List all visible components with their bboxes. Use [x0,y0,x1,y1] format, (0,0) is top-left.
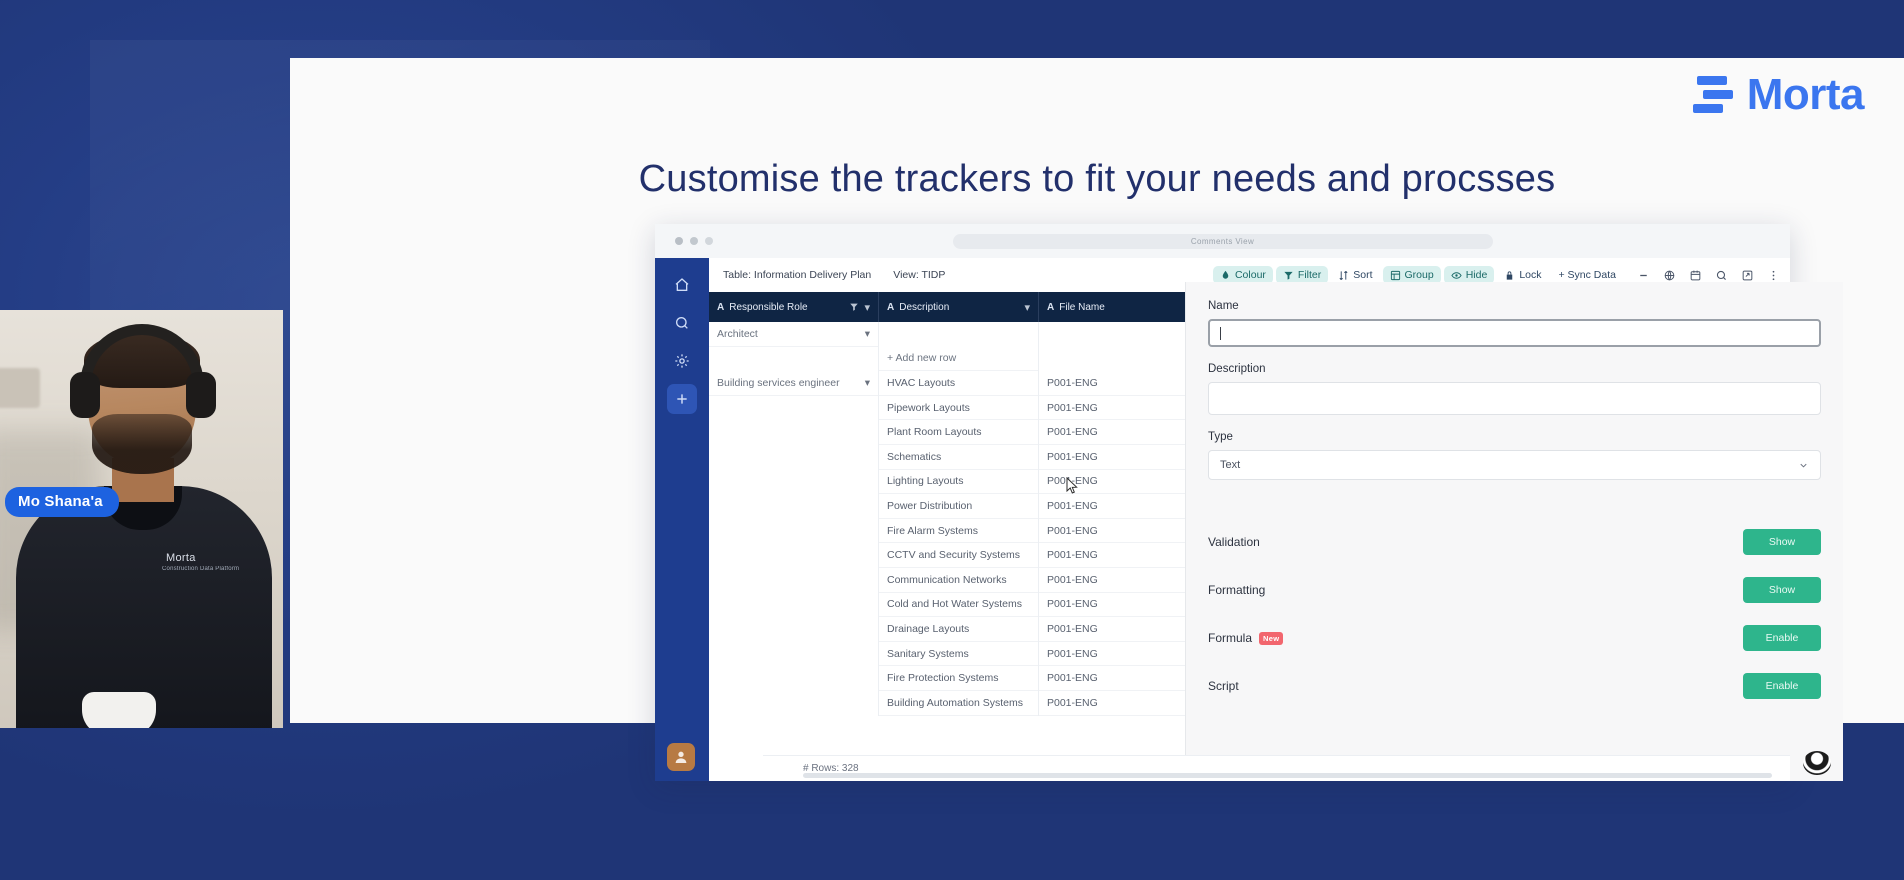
grid-column-description: + Add new row HVAC Layouts Pipework Layo… [879,322,1039,716]
sort-icon [1338,270,1349,281]
export-icon[interactable] [1741,269,1754,282]
hide-button-label: Hide [1466,269,1488,281]
presenter-video-tile[interactable]: Morta Construction Data Platform [0,310,283,728]
participant-name-badge: Mo Shana'a [5,487,119,517]
name-label: Name [1208,300,1821,312]
table-cell[interactable]: Cold and Hot Water Systems [879,593,1038,618]
slide-panel: Morta Customise the trackers to fit your… [290,58,1904,723]
browser-window: Comments View [655,224,1790,781]
app-body: Table: Information Delivery Plan View: T… [655,258,1790,781]
chevron-down-icon [1798,460,1809,471]
table-cell[interactable] [709,494,878,519]
column-editor-panel: Name Description Type Tex [1185,282,1843,781]
formula-label: Formula [1208,631,1252,645]
calendar-icon[interactable] [1689,269,1702,282]
collapse-icon[interactable] [1637,269,1650,282]
mug [82,692,156,728]
table-cell[interactable] [709,568,878,593]
toolbar-table-label: Table: Information Delivery Plan [723,269,871,281]
table-cell[interactable] [709,593,878,618]
name-input[interactable] [1208,319,1821,347]
formula-enable-button[interactable]: Enable [1743,625,1821,651]
type-select[interactable]: Text [1208,450,1821,480]
table-cell[interactable]: HVAC Layouts [879,371,1038,396]
table-cell[interactable] [709,691,878,716]
lock-button-label: Lock [1519,269,1541,281]
globe-icon[interactable] [1663,269,1676,282]
text-type-icon: A [887,302,894,313]
shirt-logo: Morta [166,552,196,564]
sort-button-label: Sort [1353,269,1372,281]
table-cell[interactable]: Pipework Layouts [879,396,1038,421]
loading-cursor-icon [1803,751,1831,775]
presenter-beard [92,414,192,474]
search-icon[interactable] [1715,269,1728,282]
table-cell[interactable] [709,347,878,372]
toolbar-icon-group [1637,269,1780,282]
window-controls[interactable] [675,237,713,245]
script-label: Script [1208,679,1239,693]
script-enable-button[interactable]: Enable [1743,673,1821,699]
column-header-description[interactable]: A Description ▾ [879,292,1039,322]
slide-title: Customise the trackers to fit your needs… [290,158,1904,201]
group-button-label: Group [1405,269,1434,281]
shirt-logo-subtitle: Construction Data Platform [162,566,239,572]
table-cell[interactable] [709,642,878,667]
room-object [0,368,40,408]
filter-button-label: Filter [1298,269,1321,281]
browser-url-bar[interactable]: Comments View [953,234,1493,249]
lock-icon [1504,270,1515,281]
headphones-right-cup-icon [186,372,216,418]
toolbar-view-label: View: TIDP [893,269,945,281]
table-cell[interactable] [879,322,1038,347]
table-cell[interactable]: Schematics [879,445,1038,470]
new-badge: New [1259,632,1283,645]
chevron-down-icon[interactable]: ▾ [1024,301,1030,314]
column-header-label: Responsible Role [729,302,844,313]
chevron-down-icon[interactable]: ▾ [864,301,870,314]
table-cell[interactable]: Fire Alarm Systems [879,519,1038,544]
type-label: Type [1208,431,1821,443]
group-cell-building-services-engineer[interactable]: Building services engineer ▾ [709,371,878,396]
validation-row: Validation Show [1208,522,1821,562]
formatting-show-button[interactable]: Show [1743,577,1821,603]
chevron-down-icon[interactable]: ▾ [865,377,870,389]
table-cell[interactable] [709,617,878,642]
table-cell[interactable]: Building Automation Systems [879,691,1038,716]
table-cell[interactable] [709,519,878,544]
browser-url-text: Comments View [1191,237,1254,246]
table-cell[interactable] [709,470,878,495]
text-caret [1220,327,1221,340]
formula-row: Formula New Enable [1208,618,1821,658]
sidebar-item-settings[interactable] [667,346,697,376]
avatar[interactable] [667,743,695,771]
table-cell[interactable]: Fire Protection Systems [879,666,1038,691]
sidebar-item-add[interactable] [667,384,697,414]
screen-root: Morta Construction Data Platform Mo Shan… [0,0,1904,880]
description-input[interactable] [1208,382,1821,415]
description-label: Description [1208,363,1821,375]
validation-show-button[interactable]: Show [1743,529,1821,555]
browser-chrome: Comments View [655,224,1790,258]
window-minimize-dot[interactable] [690,237,698,245]
text-type-icon: A [1047,302,1054,313]
more-icon[interactable] [1767,269,1780,282]
funnel-icon[interactable] [849,302,859,312]
mouse-cursor-icon [1066,477,1078,495]
text-type-icon: A [717,302,724,313]
table-cell[interactable]: Communication Networks [879,568,1038,593]
headphones-left-cup-icon [70,372,100,418]
colour-button-label: Colour [1235,269,1266,281]
formatting-row: Formatting Show [1208,570,1821,610]
group-label: Architect [717,328,758,340]
sync-data-button-label: + Sync Data [1559,269,1617,281]
table-cell[interactable] [709,396,878,421]
group-icon [1390,270,1401,281]
validation-label: Validation [1208,535,1260,549]
formatting-label: Formatting [1208,583,1265,597]
sidebar-item-home[interactable] [667,270,697,300]
chevron-down-icon[interactable]: ▾ [865,328,870,340]
table-cell[interactable]: Power Distribution [879,494,1038,519]
formula-label-group: Formula New [1208,631,1283,645]
group-cell-architect[interactable]: Architect ▾ [709,322,878,347]
morta-logo: Morta [1693,70,1864,120]
table-cell[interactable]: Lighting Layouts [879,470,1038,495]
droplet-icon [1220,270,1231,281]
sidebar-item-search[interactable] [667,308,697,338]
morta-mark-icon [1693,76,1735,114]
grid-column-responsible-role: Architect ▾ Building services engineer ▾ [709,322,879,716]
table-cell[interactable] [709,543,878,568]
type-field-group: Type Text [1208,431,1821,480]
add-new-row-button[interactable]: + Add new row [879,347,1038,372]
table-cell[interactable]: Sanitary Systems [879,642,1038,667]
window-maximize-dot[interactable] [705,237,713,245]
window-close-dot[interactable] [675,237,683,245]
grid-horizontal-scrollbar[interactable] [803,773,1772,778]
script-row: Script Enable [1208,666,1821,706]
table-cell[interactable]: Drainage Layouts [879,617,1038,642]
app-sidebar-rail [655,258,709,781]
column-header-responsible-role[interactable]: A Responsible Role ▾ [709,292,879,322]
app-main: Table: Information Delivery Plan View: T… [709,258,1790,781]
eye-icon [1451,270,1462,281]
name-field-group: Name [1208,300,1821,347]
column-header-label: Description [899,302,1019,313]
group-label: Building services engineer [717,377,840,389]
table-cell[interactable] [709,445,878,470]
table-cell[interactable] [709,666,878,691]
funnel-icon [1283,270,1294,281]
type-select-value: Text [1220,459,1240,471]
table-cell[interactable]: CCTV and Security Systems [879,543,1038,568]
morta-wordmark: Morta [1747,70,1864,120]
table-cell[interactable] [709,420,878,445]
description-field-group: Description [1208,363,1821,415]
table-cell[interactable]: Plant Room Layouts [879,420,1038,445]
